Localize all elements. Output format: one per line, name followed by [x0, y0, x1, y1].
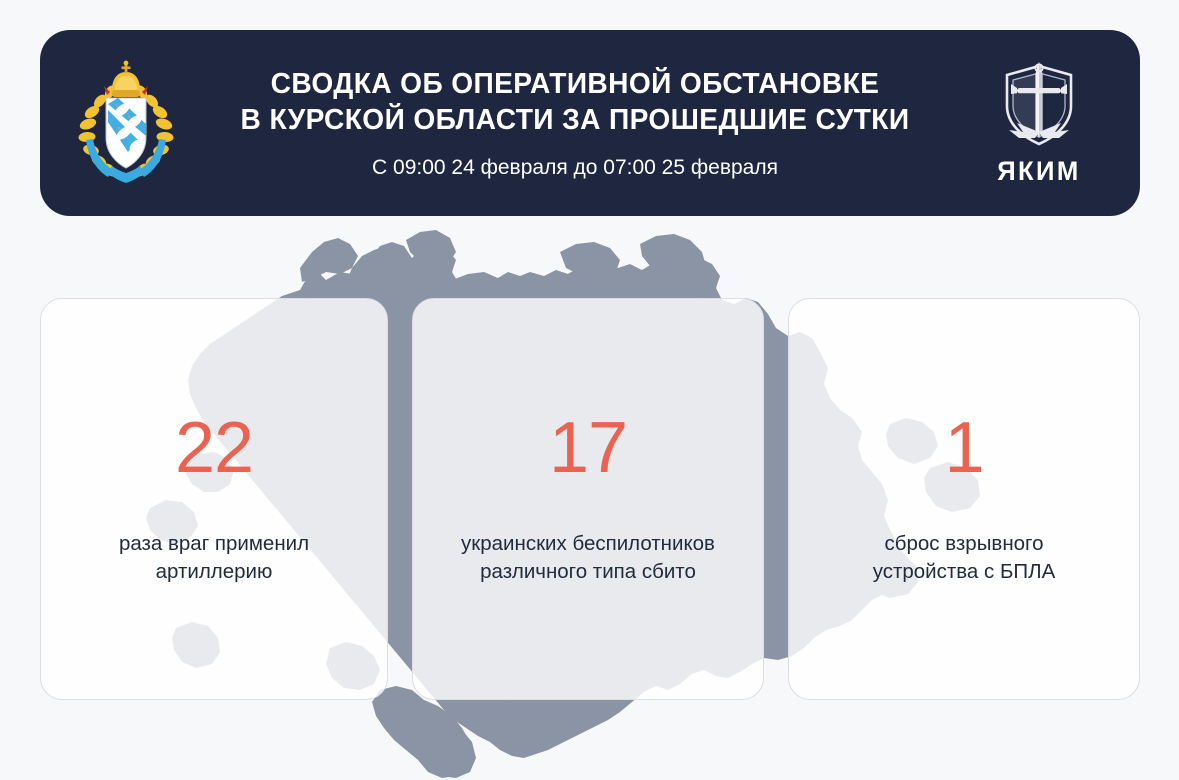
stat-card-number: 1 — [944, 412, 983, 484]
header-text-block: СВОДКА ОБ ОПЕРАТИВНОЙ ОБСТАНОВКЕ В КУРСК… — [186, 66, 964, 181]
shield-sword-icon — [995, 60, 1083, 152]
stat-card-label: украинских беспилотников различного типа… — [461, 530, 715, 587]
kursk-oblast-coat-of-arms — [66, 60, 186, 186]
page-title-line-2: В КУРСКОЙ ОБЛАСТИ ЗА ПРОШЕДШИЕ СУТКИ — [203, 102, 946, 139]
report-period-subtitle: С 09:00 24 февраля до 07:00 25 февраля — [192, 155, 958, 180]
stat-card-label: раза враг применил артиллерию — [119, 530, 309, 587]
yakim-logo: ЯКИМ — [964, 60, 1114, 187]
header-banner: СВОДКА ОБ ОПЕРАТИВНОЙ ОБСТАНОВКЕ В КУРСК… — [40, 30, 1140, 216]
stat-card-explosive-drop: 1 сброс взрывного устройства с БПЛА — [788, 298, 1140, 700]
stat-card-artillery: 22 раза враг применил артиллерию — [40, 298, 388, 700]
stat-card-number: 17 — [549, 412, 627, 484]
stat-cards-row: 22 раза враг применил артиллерию 17 укра… — [40, 298, 1140, 700]
map-top-detail — [300, 230, 706, 282]
stat-card-label: сброс взрывного устройства с БПЛА — [873, 530, 1056, 587]
stat-card-number: 22 — [175, 412, 253, 484]
stat-card-drones-downed: 17 украинских беспилотников различного т… — [412, 298, 764, 700]
page-title-line-1: СВОДКА ОБ ОПЕРАТИВНОЙ ОБСТАНОВКЕ — [203, 66, 946, 103]
yakim-wordmark: ЯКИМ — [997, 156, 1080, 187]
